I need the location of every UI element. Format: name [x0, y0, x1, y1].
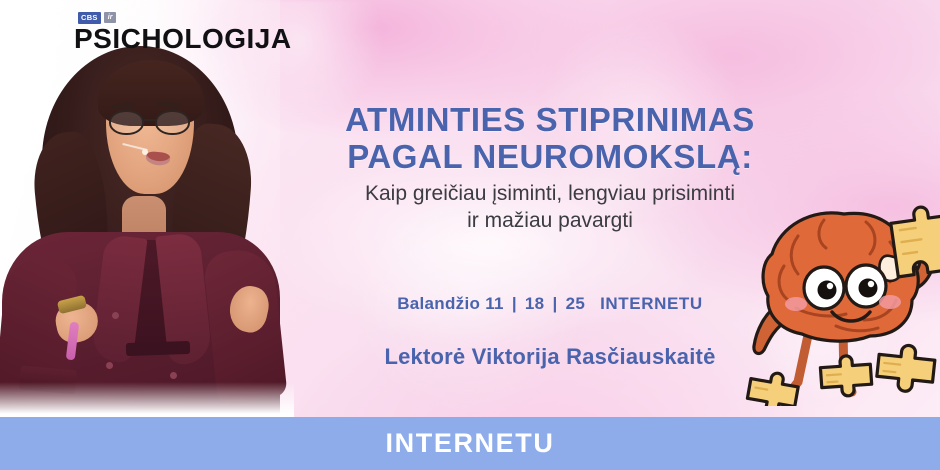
blazer-button-3: [170, 372, 177, 379]
glasses-lens-right: [155, 110, 190, 135]
logo-badge-primary: CBS: [78, 12, 101, 24]
subtitle-line-2: ir mažiau pavargti: [248, 207, 852, 234]
blazer-button-2: [106, 362, 113, 369]
date-day-1: 11: [485, 294, 504, 313]
belt: [126, 341, 190, 356]
date-day-3: 25: [566, 294, 586, 313]
photo-bottom-fade: [0, 382, 294, 418]
date-separator-2: |: [549, 294, 560, 313]
logo-wordmark: PSICHOLOGIJA: [74, 25, 292, 53]
bottom-banner: INTERNETU: [0, 417, 940, 470]
title-line-2: PAGAL NEUROMOKSLĄ:: [250, 139, 850, 176]
subtitle-line-1: Kaip greičiau įsiminti, lengviau prisimi…: [365, 182, 735, 205]
headset-mic-tip: [142, 149, 148, 155]
page-title: ATMINTIES STIPRINIMAS PAGAL NEUROMOKSLĄ:: [250, 102, 850, 176]
logo-badge: CBS ir: [78, 12, 292, 24]
banner-label: INTERNETU: [386, 428, 555, 459]
glasses-icon: [106, 110, 196, 136]
date-separator-1: |: [509, 294, 520, 313]
magazine-logo: CBS ir PSICHOLOGIJA: [74, 12, 292, 53]
event-dateline: Balandžio 11 | 18 | 25 INTERNETU: [270, 294, 830, 314]
date-month: Balandžio: [397, 294, 480, 313]
blazer-button-1: [112, 312, 119, 319]
logo-badge-secondary: ir: [104, 12, 117, 23]
lecturer-name: Lektorė Viktorija Rasčiauskaitė: [250, 344, 850, 370]
page-subtitle: Kaip greičiau įsiminti, lengviau prisimi…: [248, 180, 852, 235]
event-promo-poster: CBS ir PSICHOLOGIJA: [0, 0, 940, 470]
date-day-2: 18: [525, 294, 545, 313]
date-format-label: INTERNETU: [600, 294, 703, 313]
title-line-1: ATMINTIES STIPRINIMAS: [345, 101, 755, 138]
glasses-lens-left: [109, 110, 144, 135]
